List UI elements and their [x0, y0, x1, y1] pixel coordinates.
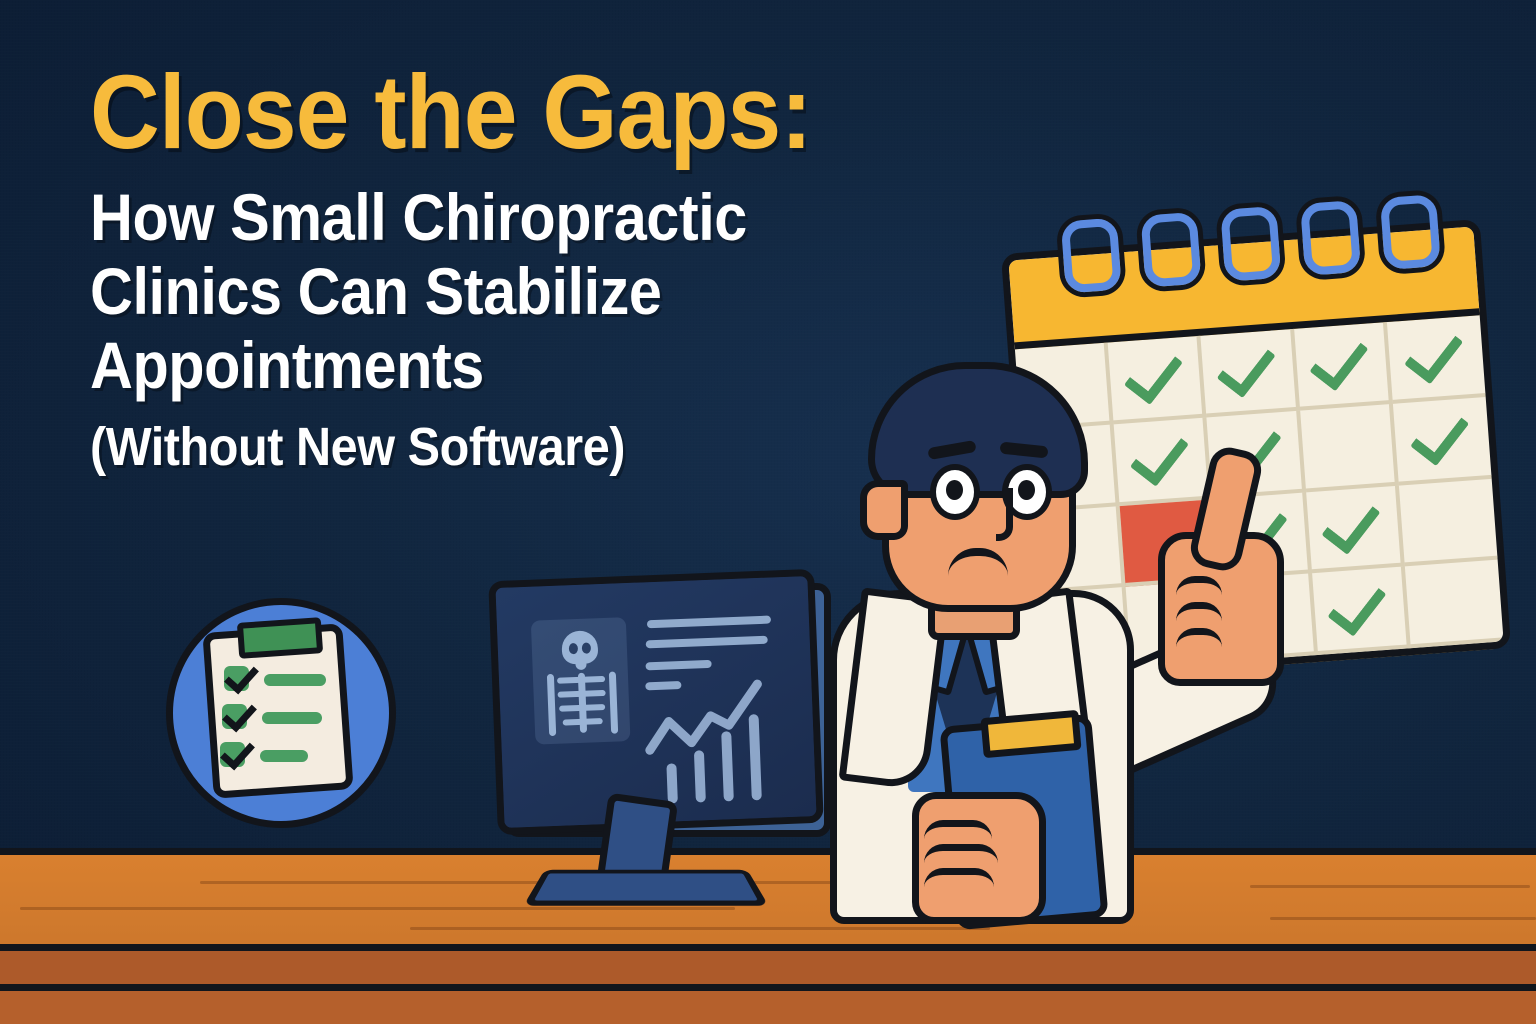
calendar-cell[interactable]: [1393, 397, 1492, 485]
ear: [860, 480, 908, 540]
check-icon: [1310, 329, 1369, 392]
desk-grain-line: [1270, 917, 1536, 920]
skull-icon: [561, 630, 598, 664]
calendar-cell[interactable]: [1405, 560, 1504, 648]
skull-eye: [582, 642, 591, 653]
clipboard-clip-icon: [237, 617, 323, 659]
pupil-left: [946, 480, 963, 500]
skull-eye: [569, 643, 578, 654]
arm-bone-icon: [547, 674, 556, 736]
chart-bar: [666, 763, 678, 803]
check-icon: [1322, 492, 1381, 555]
calendar-cell[interactable]: [1387, 315, 1486, 403]
skull-jaw: [575, 661, 586, 670]
rib-icon: [559, 704, 605, 712]
monitor-bezel: [488, 569, 824, 835]
trend-line-chart-icon: [641, 673, 784, 768]
spiral-ring-icon: [1220, 206, 1281, 282]
subtitle-line-1: How Small Chiropractic: [90, 181, 990, 255]
page-title: Close the Gaps:: [90, 62, 1010, 165]
checklist-line: [260, 750, 308, 762]
spiral-ring-icon: [1300, 200, 1361, 276]
checklist-badge: [160, 592, 395, 820]
illustration-canvas: Close the Gaps: How Small Chiropractic C…: [0, 0, 1536, 1024]
calendar-cell[interactable]: [1312, 567, 1411, 655]
spiral-ring-icon: [1061, 218, 1122, 294]
calendar-cell[interactable]: [1300, 404, 1399, 492]
rib-icon: [557, 676, 605, 684]
spiral-ring-icon: [1380, 194, 1441, 270]
report-line: [647, 616, 771, 629]
rib-icon: [558, 690, 606, 698]
desk-grain-line: [1250, 885, 1530, 888]
desk-edge-band-lower: [0, 984, 1536, 1024]
check-icon: [1405, 322, 1464, 385]
finger: [924, 844, 998, 863]
xray-panel: [531, 617, 631, 745]
subtitle-line-2: Clinics Can Stabilize: [90, 255, 990, 329]
nose: [996, 488, 1013, 541]
desktop-monitor: [487, 575, 817, 905]
spiral-ring-icon: [1140, 212, 1201, 288]
report-line: [646, 636, 768, 649]
finger: [924, 868, 994, 887]
calendar-cell[interactable]: [1294, 322, 1393, 410]
check-icon: [1328, 574, 1387, 637]
calendar-cell[interactable]: [1306, 485, 1405, 573]
clipboard-clip: [980, 710, 1081, 758]
pupil-right: [1018, 480, 1035, 500]
arm-bone-icon: [609, 672, 618, 734]
checklist-line: [264, 674, 326, 686]
chiropractor-character: [820, 352, 1290, 932]
finger: [924, 820, 992, 839]
rib-icon: [563, 718, 603, 726]
eye-left: [930, 464, 980, 520]
calendar-cell[interactable]: [1399, 478, 1498, 566]
report-line: [645, 660, 711, 671]
chart-bar: [694, 750, 706, 802]
desk-grain-line: [20, 907, 735, 910]
checklist-line: [262, 712, 322, 724]
monitor-screen: [496, 576, 817, 828]
hair: [868, 362, 1088, 498]
check-icon: [1410, 403, 1469, 466]
monitor-stand-base: [523, 870, 768, 906]
